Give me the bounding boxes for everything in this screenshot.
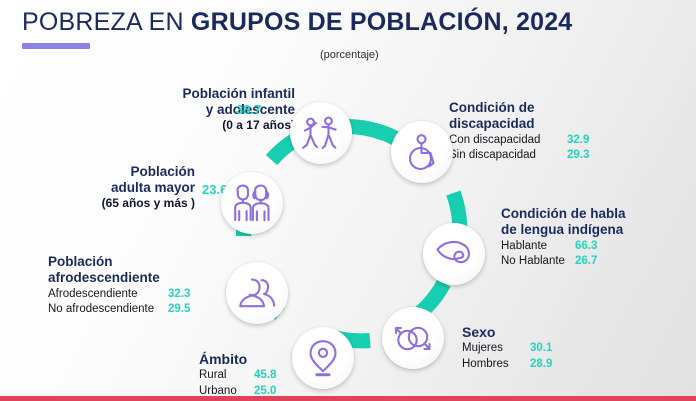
wheelchair-icon xyxy=(404,133,440,171)
speech-swirl-icon xyxy=(434,239,474,269)
group-afrodescendiente-rows: Afrodescendiente 32.3 No afrodescendient… xyxy=(48,287,190,317)
group-adulta-mayor-heading: Población adulta mayor xyxy=(20,164,195,196)
title-block: POBREZA EN GRUPOS DE POBLACIÓN, 2024 xyxy=(22,8,572,49)
page-title-bold: GRUPOS DE POBLACIÓN, 2024 xyxy=(191,8,572,36)
group-lengua-heading: Condición de habla de lengua indígena xyxy=(501,206,626,238)
subtitle: (porcentaje) xyxy=(320,49,379,61)
group-lengua-rows: Hablante 66.3 No Hablante 26.7 xyxy=(501,239,626,269)
title-accent-rule xyxy=(22,43,90,49)
data-row: No Hablante 26.7 xyxy=(501,254,626,269)
two-people-icon xyxy=(237,277,277,309)
children-icon xyxy=(301,114,341,152)
group-adulta-mayor-note: (65 años y más ) xyxy=(20,196,195,210)
node-discapacidad[interactable] xyxy=(391,121,453,183)
location-pin-icon xyxy=(307,338,339,378)
node-adulta-mayor[interactable] xyxy=(221,172,283,234)
node-infantil[interactable] xyxy=(290,102,352,164)
node-ambito[interactable] xyxy=(292,327,354,389)
node-lengua[interactable] xyxy=(423,223,485,285)
page-title-thin: POBREZA EN xyxy=(22,8,191,36)
bottom-accent-bar xyxy=(0,396,696,401)
data-row: Afrodescendiente 32.3 xyxy=(48,287,190,302)
data-row: Hablante 66.3 xyxy=(501,239,626,254)
node-afrodescendiente[interactable] xyxy=(226,262,288,324)
page-title: POBREZA EN GRUPOS DE POBLACIÓN, 2024 xyxy=(22,8,572,36)
group-afrodescendiente-heading: Población afrodescendiente xyxy=(48,254,190,286)
node-sexo[interactable] xyxy=(382,307,444,369)
infographic-slide: POBREZA EN GRUPOS DE POBLACIÓN, 2024 (po… xyxy=(0,0,696,401)
circular-diagram xyxy=(218,84,482,394)
data-row: No afrodescendiente 29.5 xyxy=(48,302,190,317)
gender-symbols-icon xyxy=(393,318,433,358)
elderly-couple-icon xyxy=(231,184,273,222)
group-adulta-mayor: Población adulta mayor (65 años y más ) xyxy=(20,164,195,210)
group-afrodescendiente: Población afrodescendiente Afrodescendie… xyxy=(48,254,190,317)
group-lengua: Condición de habla de lengua indígena Ha… xyxy=(501,206,626,269)
